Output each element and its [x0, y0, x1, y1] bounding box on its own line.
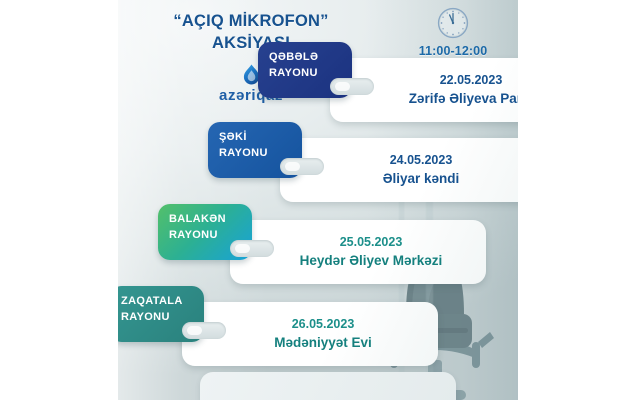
image-frame: “AÇIQ MİKROFON” AKSİYASI azəriqaz	[0, 0, 637, 400]
tag-connector-notch	[182, 322, 226, 339]
schedule-time-block: 11:00-12:00	[390, 6, 516, 58]
event-date: 24.05.2023	[390, 151, 453, 170]
event-place: Zərifə Əliyeva Parkı	[409, 89, 518, 109]
clock-icon	[436, 6, 470, 40]
event-date: 25.05.2023	[340, 233, 403, 252]
schedule-time-label: 11:00-12:00	[390, 44, 516, 58]
district-tag-line-1: QƏBƏLƏ	[269, 51, 318, 63]
district-tag-qebele[interactable]: QƏBƏLƏ RAYONU	[258, 42, 352, 98]
district-tag-line-1: ŞƏKİ	[219, 131, 247, 143]
event-place: Əliyar kəndi	[383, 169, 460, 189]
event-date: 26.05.2023	[292, 315, 355, 334]
district-tag-zaqatala[interactable]: ZAQATALA RAYONU	[118, 286, 204, 342]
tag-connector-notch	[230, 240, 274, 257]
district-tag-line-1: ZAQATALA	[121, 295, 183, 307]
headline-line-1: “AÇIQ MİKROFON”	[173, 12, 328, 30]
tag-connector-notch	[280, 158, 324, 175]
event-date: 22.05.2023	[440, 71, 503, 90]
district-tag-balaken[interactable]: BALAKƏN RAYONU	[158, 204, 252, 260]
poster-canvas: “AÇIQ MİKROFON” AKSİYASI azəriqaz	[118, 0, 518, 400]
event-card-partial	[200, 372, 456, 400]
event-place: Mədəniyyət Evi	[274, 333, 372, 353]
district-tag-seki[interactable]: ŞƏKİ RAYONU	[208, 122, 302, 178]
district-tag-line-1: BALAKƏN	[169, 213, 226, 225]
event-place: Heydər Əliyev Mərkəzi	[300, 251, 443, 271]
tag-connector-notch	[330, 78, 374, 95]
